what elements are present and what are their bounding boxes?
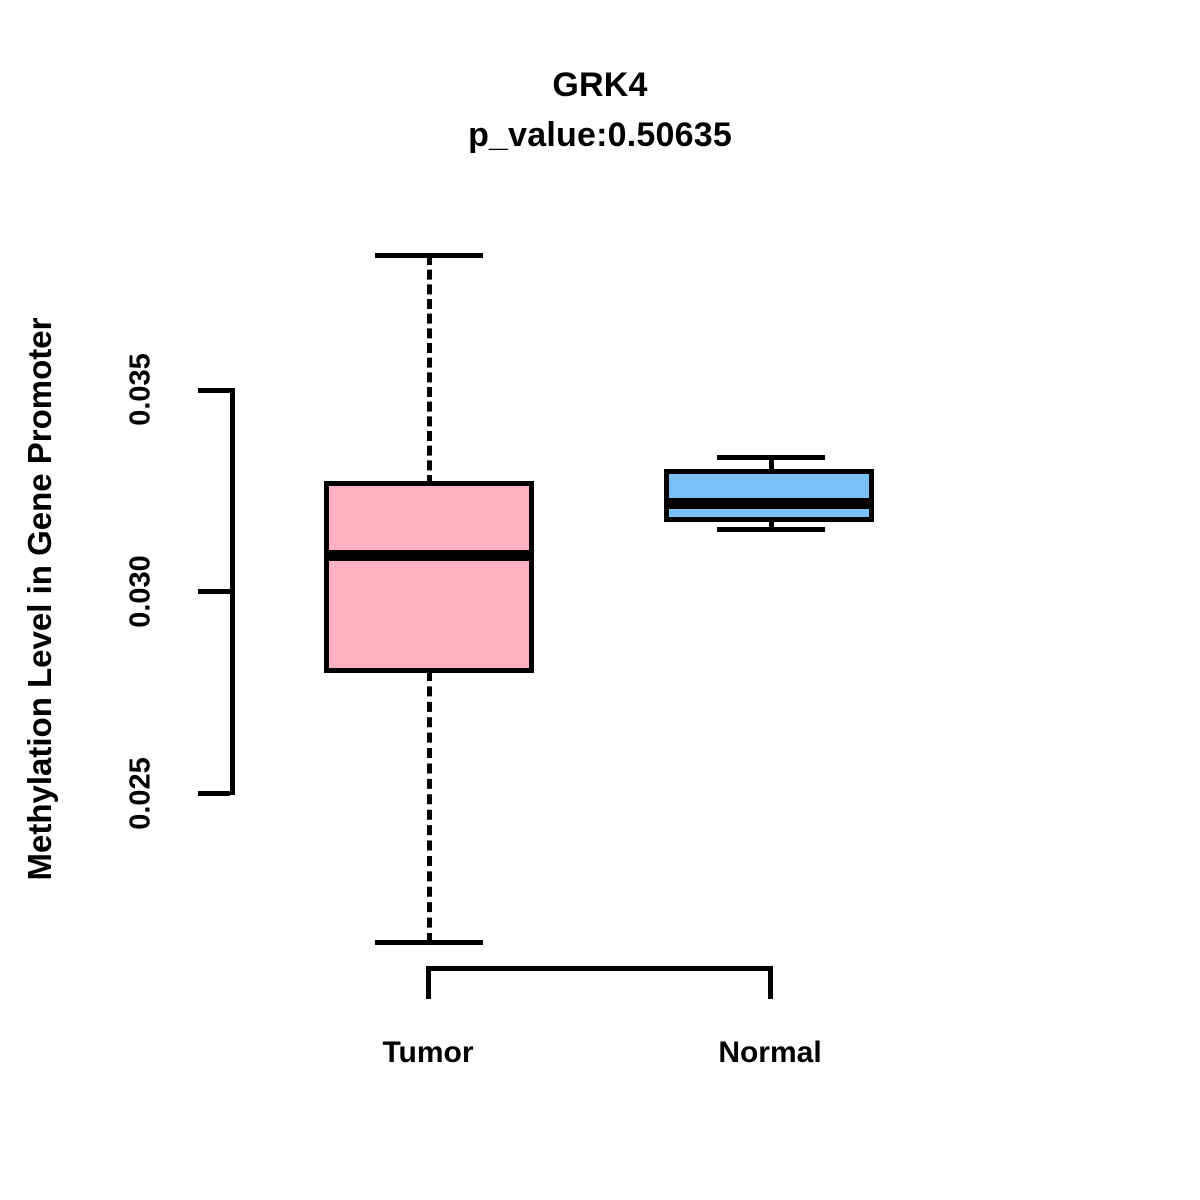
x-axis-ticklabel-normal: Normal bbox=[670, 1036, 870, 1070]
y-axis-ticklabel-0030: 0.030 bbox=[125, 537, 158, 647]
tumor-upper-whisker-line bbox=[427, 255, 432, 485]
normal-box[interactable] bbox=[664, 469, 874, 522]
normal-median-line bbox=[664, 498, 874, 509]
x-axis-ticklabel-tumor: Tumor bbox=[328, 1036, 528, 1070]
y-axis-label: Methylation Level in Gene Promoter bbox=[21, 169, 59, 1029]
chart-subtitle-pvalue: p_value:0.50635 bbox=[0, 110, 1200, 160]
y-axis-tick-0025 bbox=[198, 791, 230, 796]
y-axis-tick-0030 bbox=[198, 589, 230, 594]
boxplot-canvas: GRK4 p_value:0.50635 Methylation Level i… bbox=[0, 0, 1200, 1200]
y-axis-line bbox=[230, 388, 235, 795]
x-axis-tick-normal bbox=[768, 966, 773, 999]
y-axis-ticklabel-0035: 0.035 bbox=[125, 335, 158, 445]
tumor-box[interactable] bbox=[324, 481, 534, 673]
tumor-lower-whisker-cap bbox=[375, 940, 483, 945]
normal-lower-whisker-cap bbox=[717, 527, 825, 532]
chart-title: GRK4 bbox=[0, 60, 1200, 110]
tumor-lower-whisker-line bbox=[427, 671, 432, 943]
y-axis-tick-0035 bbox=[198, 388, 230, 393]
y-axis-ticklabel-0025: 0.025 bbox=[125, 739, 158, 849]
x-axis-line bbox=[428, 966, 773, 971]
x-axis-tick-tumor bbox=[426, 966, 431, 999]
chart-title-block: GRK4 p_value:0.50635 bbox=[0, 60, 1200, 160]
tumor-median-line bbox=[324, 550, 534, 561]
